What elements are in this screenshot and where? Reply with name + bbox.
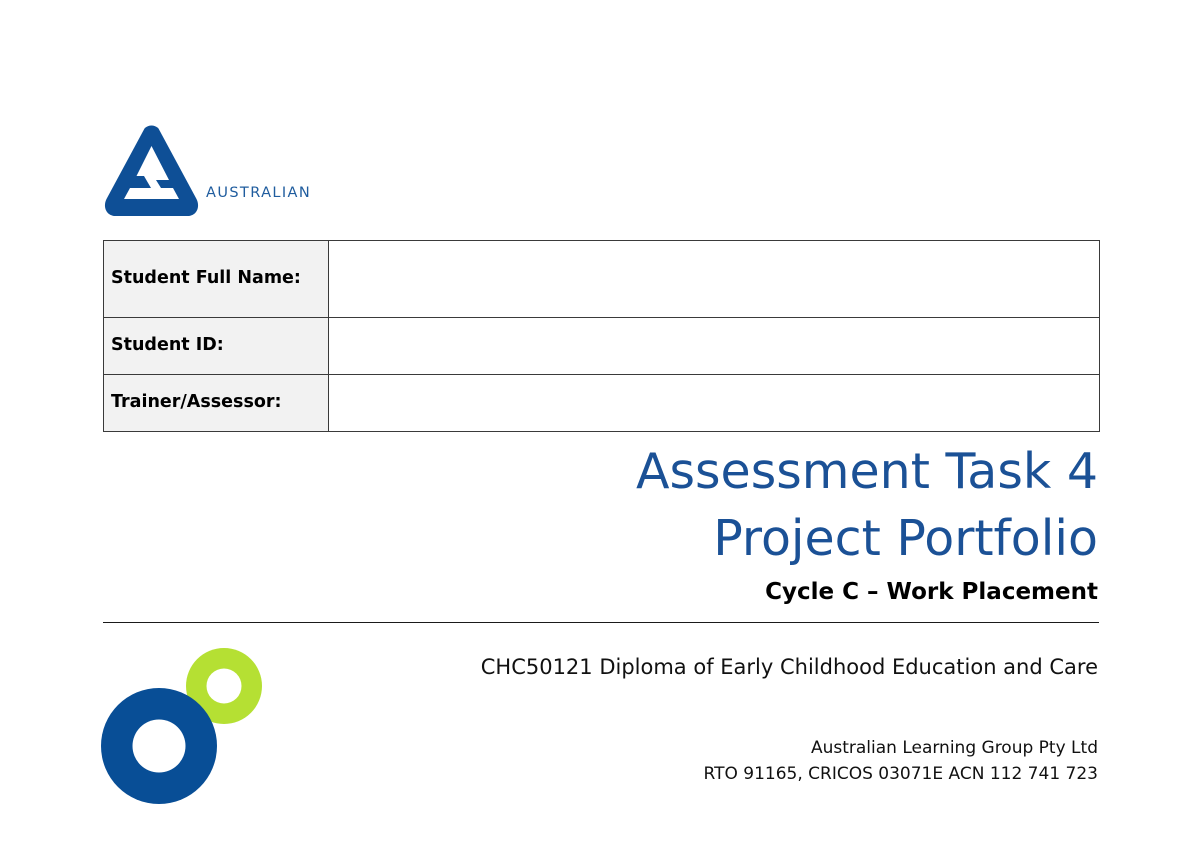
legal-registration-codes: RTO 91165, CRICOS 03071E ACN 112 741 723 — [103, 761, 1098, 787]
title-divider-rule — [103, 622, 1099, 623]
student-details-table: Student Full Name: Student ID: Trainer/A… — [103, 240, 1100, 432]
document-page: AUSTRALIAN LEARNING GROUP Student Full N… — [0, 0, 1200, 849]
table-row: Student ID: — [104, 318, 1100, 375]
page-title-line-1: Assessment Task 4 — [103, 438, 1098, 505]
label-trainer-assessor: Trainer/Assessor: — [104, 375, 329, 432]
page-title-line-2: Project Portfolio — [103, 505, 1098, 572]
table-row: Trainer/Assessor: — [104, 375, 1100, 432]
field-student-id[interactable] — [329, 318, 1100, 375]
label-student-id: Student ID: — [104, 318, 329, 375]
legal-footer: Australian Learning Group Pty Ltd RTO 91… — [103, 735, 1098, 787]
table-row: Student Full Name: — [104, 241, 1100, 318]
brand-wordmark-line-1: AUSTRALIAN — [206, 183, 311, 204]
field-student-full-name[interactable] — [329, 241, 1100, 318]
field-trainer-assessor[interactable] — [329, 375, 1100, 432]
australian-learning-group-triangle-logo — [103, 124, 200, 220]
legal-company-name: Australian Learning Group Pty Ltd — [103, 735, 1098, 761]
page-subtitle: Cycle C – Work Placement — [103, 578, 1098, 606]
page-title: Assessment Task 4 Project Portfolio Cycl… — [103, 438, 1098, 606]
brand-header: AUSTRALIAN LEARNING GROUP — [103, 124, 433, 222]
label-student-full-name: Student Full Name: — [104, 241, 329, 318]
